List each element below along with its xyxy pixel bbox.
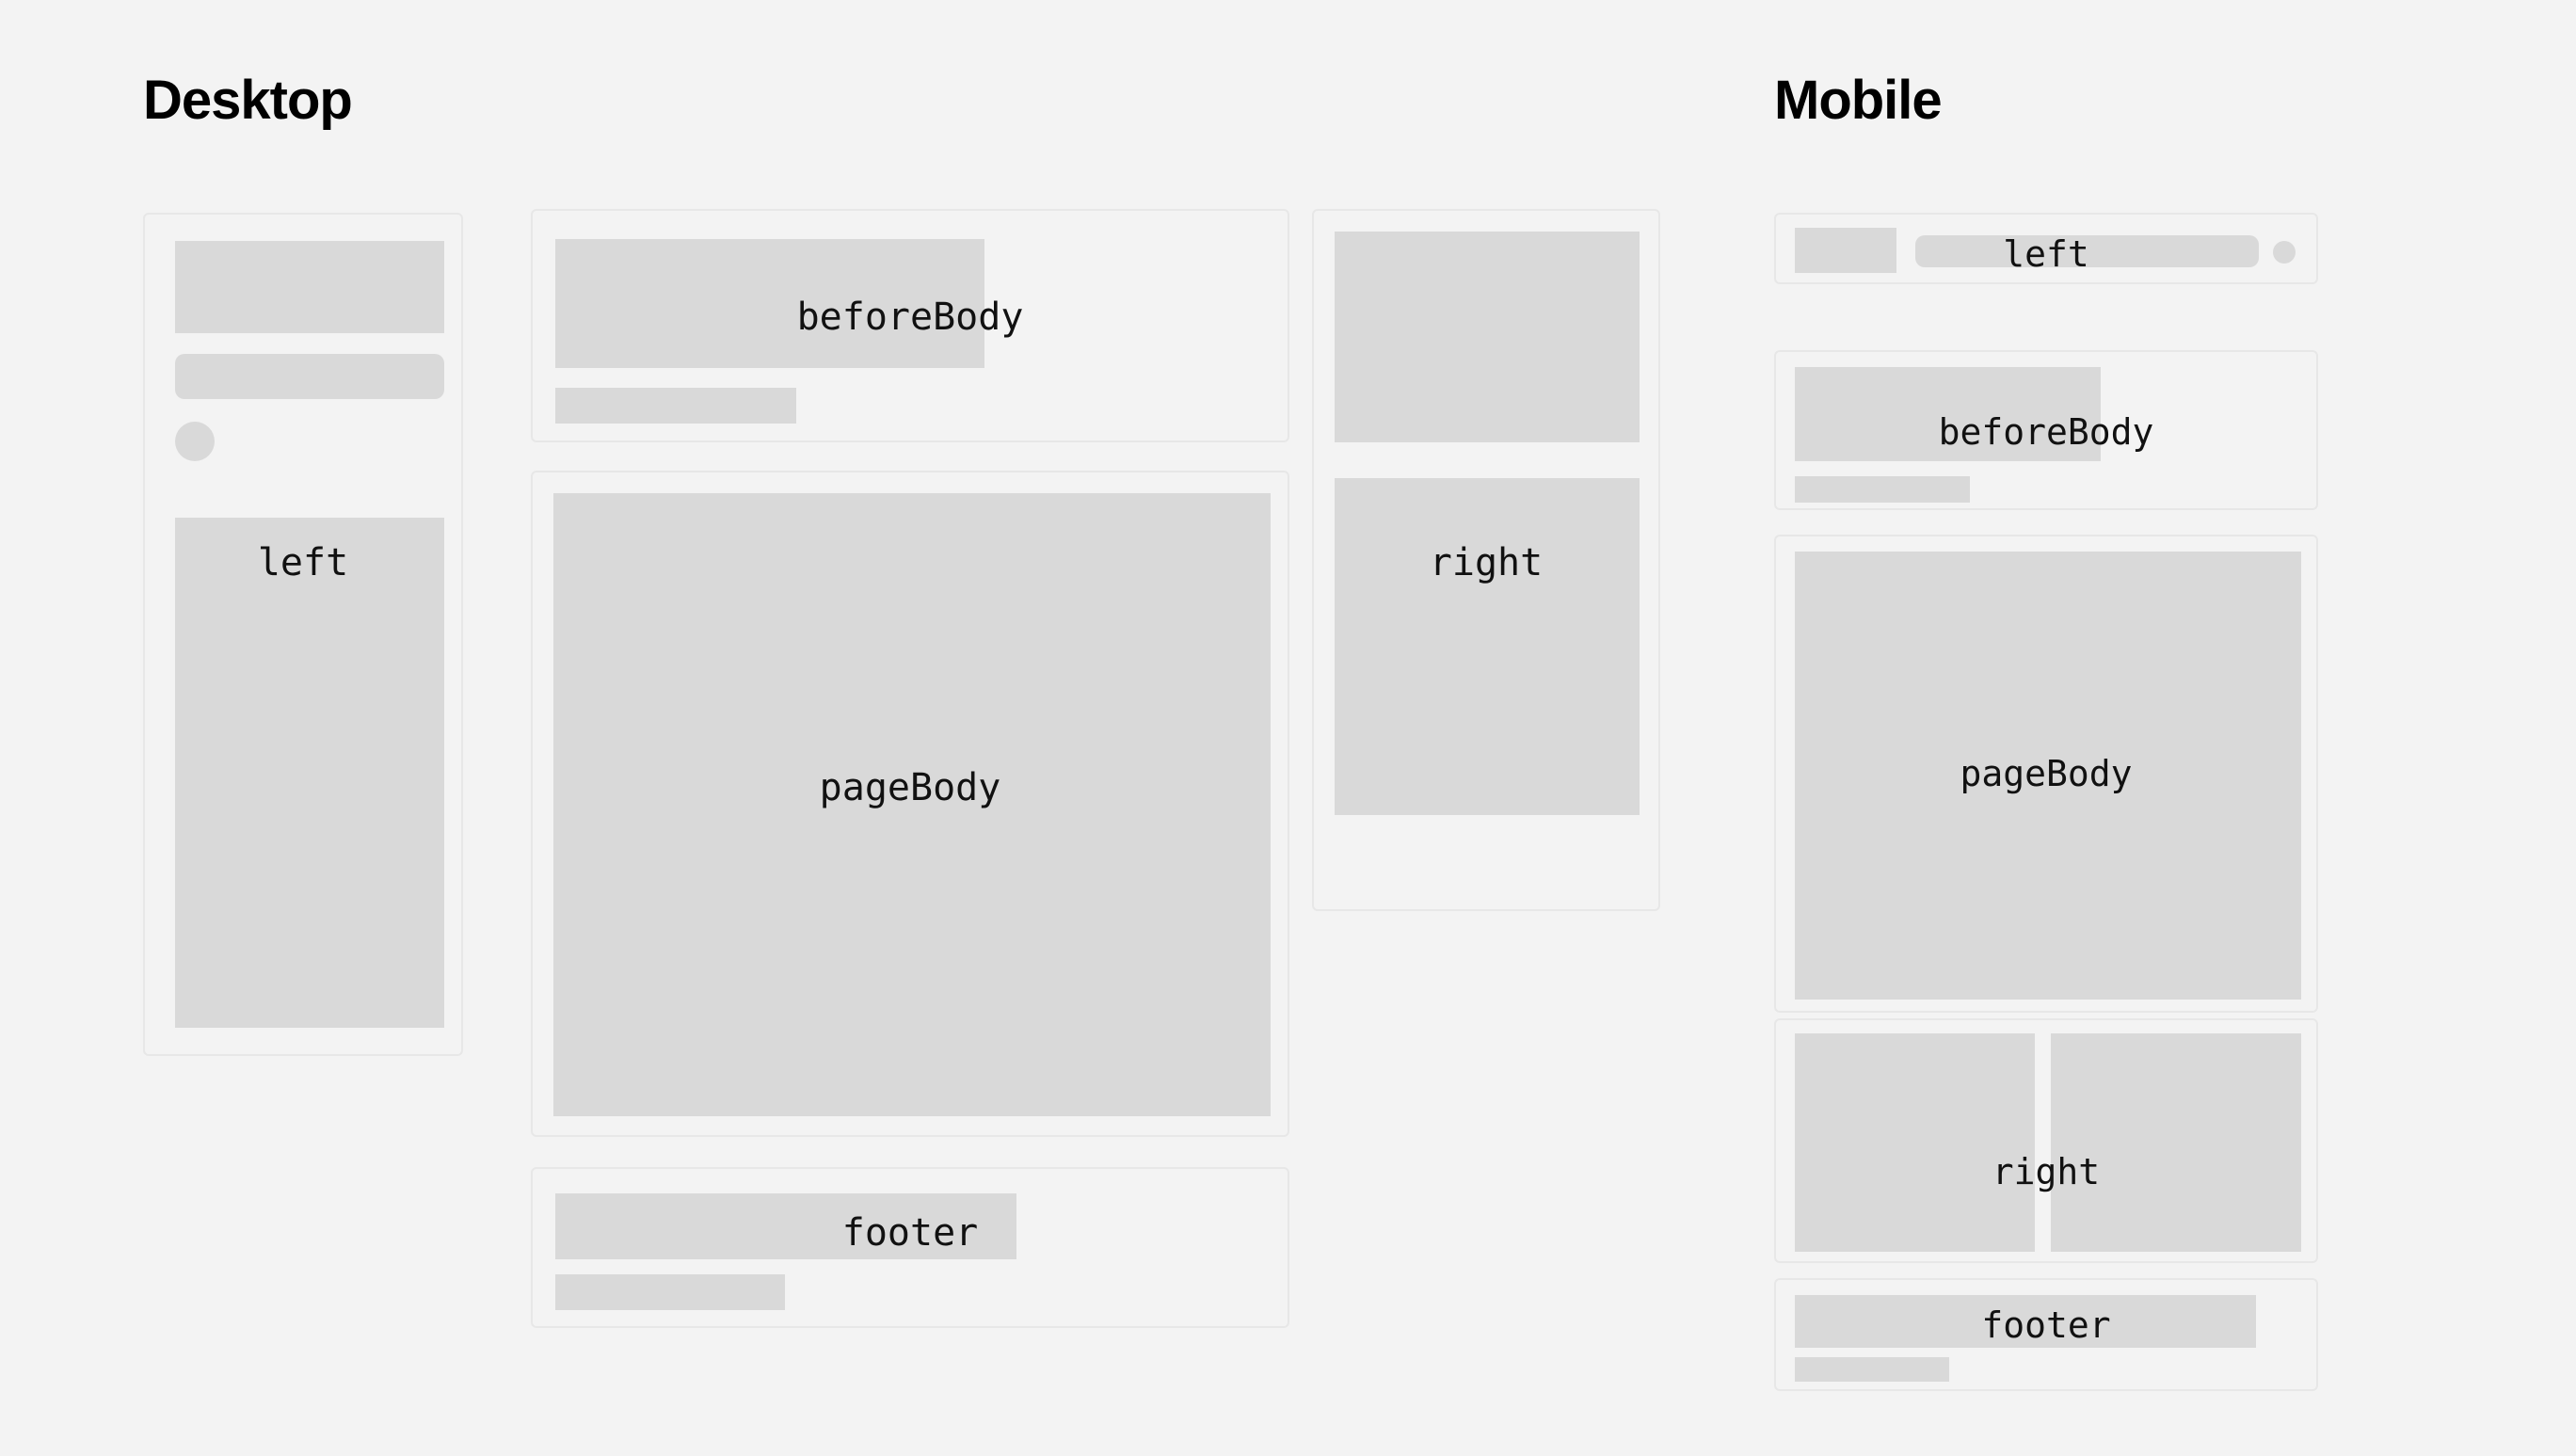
- mobile-section-title: Mobile: [1774, 73, 1942, 128]
- placeholder-bar: [1795, 1357, 1949, 1382]
- placeholder-block: [555, 1193, 1016, 1259]
- mobile-page-body-panel[interactable]: [1774, 535, 2318, 1013]
- mobile-right-panel[interactable]: [1774, 1018, 2318, 1263]
- layout-preview-stage: Desktop left beforeBody pageBody footer …: [0, 0, 2576, 1456]
- placeholder-bar: [555, 1274, 785, 1310]
- mobile-footer-panel[interactable]: [1774, 1278, 2318, 1391]
- desktop-right-panel[interactable]: [1312, 209, 1660, 911]
- mobile-before-body-panel[interactable]: [1774, 350, 2318, 510]
- desktop-before-body-panel[interactable]: [531, 209, 1289, 442]
- desktop-page-body-panel[interactable]: [531, 471, 1289, 1137]
- placeholder-bar: [175, 354, 444, 399]
- placeholder-block: [553, 493, 1271, 1116]
- placeholder-block: [175, 518, 444, 1028]
- mobile-left-panel[interactable]: [1774, 213, 2318, 284]
- placeholder-block: [1795, 367, 2101, 461]
- placeholder-block: [2051, 1033, 2301, 1252]
- placeholder-avatar-circle: [175, 422, 215, 461]
- desktop-section-title: Desktop: [143, 73, 352, 128]
- placeholder-block: [175, 241, 444, 333]
- placeholder-block: [1795, 1295, 2256, 1348]
- placeholder-avatar-circle: [2273, 241, 2296, 264]
- placeholder-bar: [1915, 235, 2259, 267]
- placeholder-block: [1335, 478, 1640, 815]
- desktop-footer-panel[interactable]: [531, 1167, 1289, 1328]
- placeholder-bar: [1795, 476, 1970, 503]
- placeholder-block: [1795, 228, 1896, 273]
- placeholder-block: [1795, 552, 2301, 1000]
- placeholder-block: [555, 239, 984, 368]
- desktop-left-panel[interactable]: [143, 213, 463, 1056]
- placeholder-bar: [555, 388, 796, 424]
- placeholder-block: [1795, 1033, 2035, 1252]
- placeholder-block: [1335, 232, 1640, 442]
